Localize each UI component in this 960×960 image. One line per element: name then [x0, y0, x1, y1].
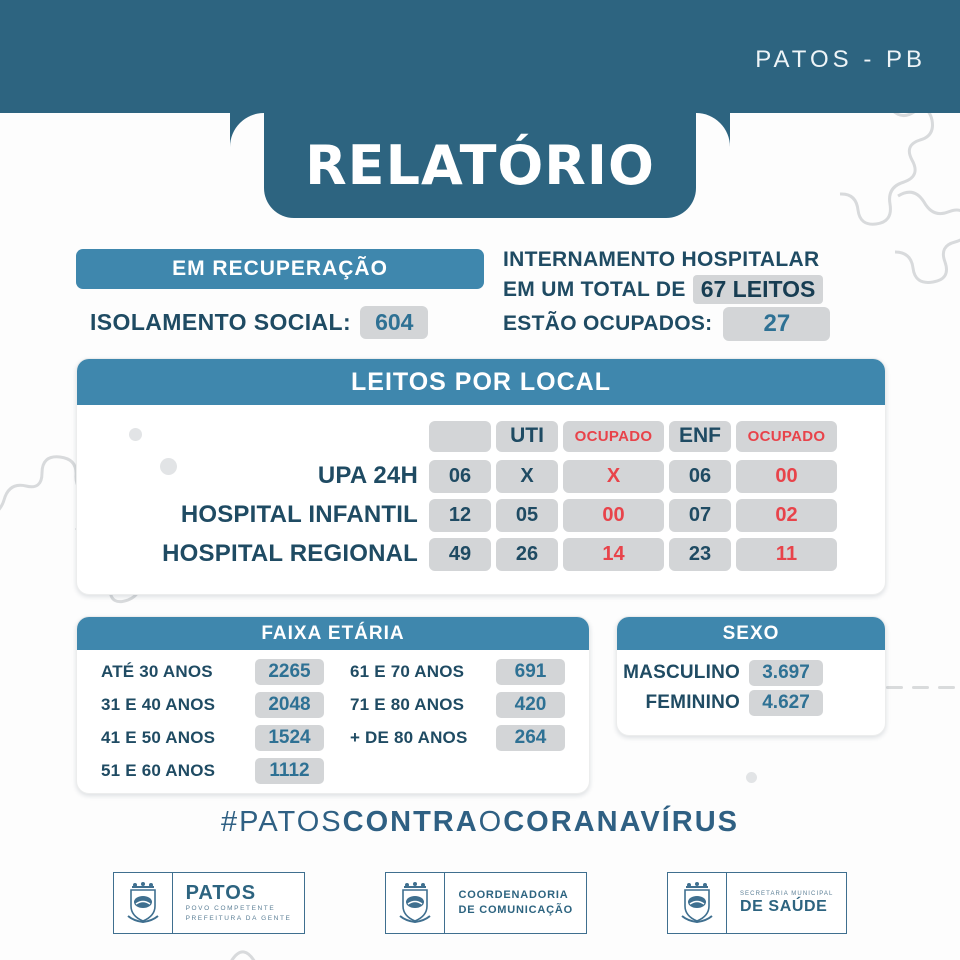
beds-cell-uti: 26 — [496, 538, 558, 571]
coat-of-arms-icon — [668, 873, 727, 933]
beds-cell-enf-occupied: 11 — [736, 538, 837, 571]
logo-patos-text: PATOS POVO COMPETENTE PREFEITURA DA GENT… — [173, 873, 305, 933]
coat-of-arms-icon — [114, 873, 173, 933]
logo-secretaria-saude: SECRETARIA MUNICIPAL DE SAÚDE — [667, 872, 847, 934]
beds-cell-total: 06 — [429, 460, 491, 493]
age-group-label: 71 E 80 ANOS — [350, 695, 488, 715]
age-groups-card: FAIXA ETÁRIA ATÉ 30 ANOS 2265 31 E 40 AN… — [76, 616, 590, 794]
list-item: + DE 80 ANOS 264 — [350, 724, 565, 752]
logo-patos-sub2: PREFEITURA DA GENTE — [186, 914, 292, 923]
isolation-value: 604 — [360, 306, 428, 339]
beds-col-enf-header: ENF — [669, 421, 731, 452]
list-item: 71 E 80 ANOS 420 — [350, 691, 565, 719]
age-group-value: 1112 — [255, 758, 324, 784]
beds-row-label: UPA 24H — [77, 462, 429, 490]
crest-shape-icon — [398, 882, 432, 924]
sex-label: MASCULINO — [623, 662, 740, 684]
age-group-label: ATÉ 30 ANOS — [101, 662, 247, 682]
age-group-value: 691 — [496, 659, 565, 685]
table-row: HOSPITAL REGIONAL 49 26 14 23 11 — [77, 536, 885, 572]
logo-saude-name: DE SAÚDE — [740, 898, 833, 916]
sex-card-header: SEXO — [617, 617, 885, 650]
hospitalization-line-1: INTERNAMENTO HOSPITALAR — [503, 248, 830, 272]
beds-by-location-card: LEITOS POR LOCAL UTI OCUPADO ENF OCUPADO… — [76, 358, 886, 595]
logo-patos: PATOS POVO COMPETENTE PREFEITURA DA GENT… — [113, 872, 306, 934]
beds-cell-enf: 23 — [669, 538, 731, 571]
sex-card: SEXO MASCULINO 3.697 FEMININO 4.627 — [616, 616, 886, 736]
decorative-dot — [746, 772, 757, 783]
virus-outline-right-icon — [838, 100, 960, 330]
crest-shape-icon — [680, 882, 714, 924]
beds-col-uti-header: UTI — [496, 421, 558, 452]
age-group-label: 51 E 60 ANOS — [101, 761, 247, 781]
list-item: MASCULINO 3.697 — [617, 658, 885, 688]
list-item: FEMININO 4.627 — [617, 688, 885, 718]
beds-cell-uti: 05 — [496, 499, 558, 532]
beds-col-uti-occupied-header: OCUPADO — [563, 421, 664, 452]
hospitalization-line-2: EM UM TOTAL DE 67 LEITOS — [503, 275, 830, 304]
hospitalization-title: INTERNAMENTO HOSPITALAR — [503, 248, 819, 272]
city-label: PATOS - PB — [755, 46, 926, 74]
campaign-hashtag: #PATOSCONTRAOCORANAVÍRUS — [0, 806, 960, 839]
age-group-label: 61 E 70 ANOS — [350, 662, 488, 682]
beds-cell-enf: 06 — [669, 460, 731, 493]
age-group-value: 2048 — [255, 692, 324, 718]
crest-shape-icon — [126, 882, 160, 924]
age-group-value: 420 — [496, 692, 565, 718]
banner-corner-right — [696, 113, 730, 147]
page-title: RELATÓRIO — [305, 134, 655, 197]
age-groups-body: ATÉ 30 ANOS 2265 31 E 40 ANOS 2048 41 E … — [77, 650, 589, 785]
decorative-dot — [160, 458, 177, 475]
table-row: UPA 24H 06 X X 06 00 — [77, 458, 885, 494]
age-group-label: 31 E 40 ANOS — [101, 695, 247, 715]
hashtag-part-2: CONTRA — [343, 806, 479, 838]
hashtag-part-3: O — [479, 806, 504, 838]
coat-of-arms-icon — [386, 873, 445, 933]
top-banner: PATOS - PB — [0, 0, 960, 113]
occupied-beds-value: 27 — [723, 307, 830, 341]
beds-row-label: HOSPITAL INFANTIL — [77, 501, 429, 529]
beds-table-header-row: UTI OCUPADO ENF OCUPADO — [77, 419, 885, 453]
recovery-pill: EM RECUPERAÇÃO — [76, 249, 484, 289]
list-item: 51 E 60 ANOS 1112 — [101, 757, 324, 785]
logo-coordenadoria-name: COORDENADORIA — [458, 888, 572, 903]
sex-value: 3.697 — [749, 660, 823, 686]
beds-col-total-header — [429, 421, 491, 452]
beds-card-title: LEITOS POR LOCAL — [351, 368, 611, 397]
list-item: 41 E 50 ANOS 1524 — [101, 724, 324, 752]
decorative-dashed-line — [886, 686, 955, 689]
age-group-value: 1524 — [255, 725, 324, 751]
beds-cell-uti-occupied: 14 — [563, 538, 664, 571]
age-group-label: + DE 80 ANOS — [350, 728, 488, 748]
logo-saude-text: SECRETARIA MUNICIPAL DE SAÚDE — [727, 873, 846, 933]
isolation-stat: ISOLAMENTO SOCIAL: 604 — [90, 306, 428, 339]
age-card-header: FAIXA ETÁRIA — [77, 617, 589, 650]
report-page: PATOS - PB RELATÓRIO EM RECUPERAÇÃO ISOL… — [0, 0, 960, 960]
beds-row-label: HOSPITAL REGIONAL — [77, 540, 429, 568]
beds-cell-enf: 07 — [669, 499, 731, 532]
sex-card-title: SEXO — [723, 623, 780, 645]
total-beds-prefix: EM UM TOTAL DE — [503, 278, 686, 302]
logo-coordenadoria-sub1: DE COMUNICAÇÃO — [458, 903, 572, 918]
sex-card-body: MASCULINO 3.697 FEMININO 4.627 — [617, 650, 885, 718]
logo-patos-sub1: POVO COMPETENTE — [186, 904, 292, 913]
occupied-prefix: ESTÃO OCUPADOS: — [503, 312, 712, 336]
hospitalization-stat: INTERNAMENTO HOSPITALAR EM UM TOTAL DE 6… — [503, 248, 830, 344]
age-group-value: 2265 — [255, 659, 324, 685]
logo-patos-name: PATOS — [186, 883, 292, 904]
table-row: HOSPITAL INFANTIL 12 05 00 07 02 — [77, 497, 885, 533]
hospitalization-line-3: ESTÃO OCUPADOS: 27 — [503, 307, 830, 341]
age-groups-column-2: 61 E 70 ANOS 691 71 E 80 ANOS 420 + DE 8… — [350, 658, 565, 785]
footer-logos: PATOS POVO COMPETENTE PREFEITURA DA GENT… — [0, 872, 960, 942]
beds-table: UTI OCUPADO ENF OCUPADO UPA 24H 06 X X 0… — [77, 405, 885, 575]
beds-col-enf-occupied-header: OCUPADO — [736, 421, 837, 452]
hashtag-part-4: CORANAVÍRUS — [503, 806, 739, 838]
beds-cell-total: 12 — [429, 499, 491, 532]
age-groups-column-1: ATÉ 30 ANOS 2265 31 E 40 ANOS 2048 41 E … — [101, 658, 324, 785]
report-title-tab: RELATÓRIO — [264, 113, 696, 218]
beds-cell-enf-occupied: 02 — [736, 499, 837, 532]
beds-cell-uti: X — [496, 460, 558, 493]
list-item: 61 E 70 ANOS 691 — [350, 658, 565, 686]
logo-coordenadoria-text: COORDENADORIA DE COMUNICAÇÃO — [445, 873, 585, 933]
beds-cell-uti-occupied: X — [563, 460, 664, 493]
age-group-label: 41 E 50 ANOS — [101, 728, 247, 748]
beds-cell-enf-occupied: 00 — [736, 460, 837, 493]
logo-saude-sub1: SECRETARIA MUNICIPAL — [740, 891, 833, 898]
list-item: 31 E 40 ANOS 2048 — [101, 691, 324, 719]
beds-cell-uti-occupied: 00 — [563, 499, 664, 532]
beds-card-header: LEITOS POR LOCAL — [77, 359, 885, 405]
decorative-dot — [129, 428, 142, 441]
logo-coordenadoria: COORDENADORIA DE COMUNICAÇÃO — [385, 872, 586, 934]
age-group-value: 264 — [496, 725, 565, 751]
recovery-label: EM RECUPERAÇÃO — [172, 257, 388, 281]
hashtag-part-1: #PATOS — [221, 806, 343, 838]
age-card-title: FAIXA ETÁRIA — [261, 623, 404, 645]
beds-cell-total: 49 — [429, 538, 491, 571]
sex-label: FEMININO — [646, 692, 741, 714]
list-item: ATÉ 30 ANOS 2265 — [101, 658, 324, 686]
banner-corner-left — [230, 113, 264, 147]
isolation-label: ISOLAMENTO SOCIAL: — [90, 309, 351, 336]
sex-value: 4.627 — [749, 690, 823, 716]
total-beds-value: 67 LEITOS — [693, 275, 824, 304]
